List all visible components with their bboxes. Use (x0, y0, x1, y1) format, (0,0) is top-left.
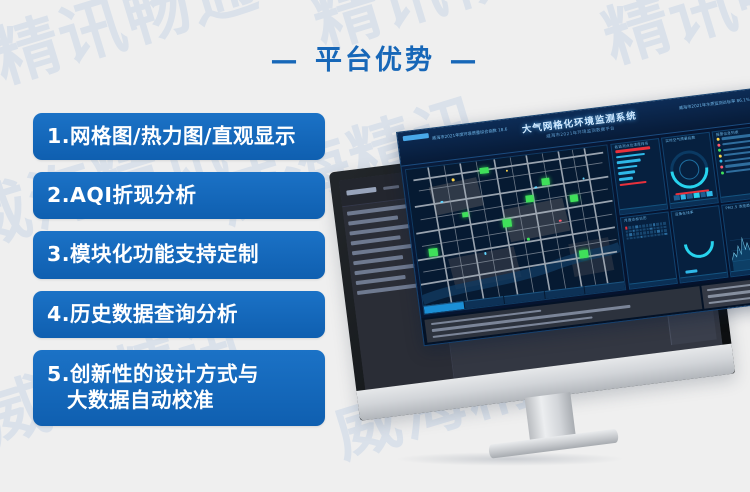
heat-cell (629, 233, 632, 236)
heat-cell (637, 236, 640, 239)
heat-cell (649, 224, 652, 227)
map-marker[interactable] (570, 194, 579, 202)
status-dot (716, 138, 719, 141)
heat-cell (632, 229, 635, 232)
legend-cell (680, 194, 686, 200)
footer-side-row (707, 280, 750, 291)
heat-cell (654, 234, 657, 237)
panel-title: 月度达标日历 (624, 216, 647, 224)
heat-cell (650, 231, 653, 234)
heat-cell (643, 232, 646, 235)
heat-cell (626, 237, 629, 240)
heat-cell (643, 228, 646, 231)
heat-cell (636, 232, 639, 235)
heat-cell (630, 237, 633, 240)
heat-cell (635, 225, 638, 228)
alarm-text (725, 161, 750, 168)
heat-cell (625, 227, 628, 230)
page-title-dash-left: — (271, 45, 301, 76)
legend-cell (700, 191, 706, 197)
alarm-text (724, 150, 750, 157)
heat-cell (632, 226, 635, 229)
alarm-text (722, 139, 750, 146)
panel-calendar-heatmap[interactable]: 月度达标日历 (620, 212, 678, 290)
panel-aqi-gauge[interactable]: 实时空气质量指数 (661, 132, 719, 210)
heat-cell (651, 234, 654, 237)
feature-label: 2.AQI折现分析 (47, 183, 196, 207)
heat-cell (633, 236, 636, 239)
sidebar-item[interactable] (347, 204, 410, 216)
feature-list: 1.网格图/热力图/直观显示 2.AQI折现分析 3.模块化功能支持定制 4.历… (33, 113, 325, 438)
panel-title: 实时空气质量指数 (665, 136, 696, 145)
sidebar-item[interactable] (351, 236, 401, 246)
heat-cell (640, 235, 643, 238)
heat-cell (657, 230, 660, 233)
status-dot (720, 165, 723, 168)
console-topbar-item[interactable] (383, 185, 399, 190)
gauge-inner-ring (676, 155, 704, 183)
heatmap-grid (625, 222, 667, 240)
map-marker[interactable] (502, 218, 512, 227)
heat-cell (633, 233, 636, 236)
heat-cell (650, 227, 653, 230)
heat-cell (661, 233, 664, 236)
heat-cell (628, 226, 631, 229)
map-marker[interactable] (428, 248, 438, 257)
heat-cell (656, 223, 659, 226)
status-dot (717, 143, 720, 146)
heat-cell (625, 230, 628, 233)
heat-cell (640, 232, 643, 235)
map-point[interactable] (452, 179, 455, 182)
panel-title: PM2.5 浓度趋势 (725, 203, 750, 211)
gauge-progress-bar (685, 269, 698, 273)
legend-cell (693, 192, 699, 198)
trend-sparkline (728, 226, 750, 273)
alarm-text (724, 156, 750, 163)
feature-label: 4.历史数据查询分析 (47, 302, 238, 326)
sidebar-item[interactable] (348, 216, 398, 226)
feature-item-5[interactable]: 5.创新性的设计方式与 大数据自动校准 (33, 350, 325, 426)
gauge-ring-icon (678, 222, 720, 264)
sidebar-item[interactable] (352, 244, 415, 256)
page-title-dash-right: — (449, 45, 479, 76)
heat-cell (660, 222, 663, 225)
heat-cell (636, 229, 639, 232)
page-title: 平台优势 (305, 38, 445, 77)
feature-item-3[interactable]: 3.模块化功能支持定制 (33, 231, 325, 278)
heat-cell (657, 226, 660, 229)
heat-cell (664, 226, 667, 229)
feature-item-2[interactable]: 2.AQI折现分析 (33, 172, 325, 219)
heat-cell (663, 222, 666, 225)
map-marker[interactable] (579, 250, 589, 259)
grid-map[interactable] (405, 144, 626, 314)
gauge-ring-icon (663, 143, 716, 196)
heat-cell (653, 227, 656, 230)
heat-cell (661, 229, 664, 232)
monitoring-dashboard: 威海市2021年度环境质量综合指数 18.6 大气网格化环境监测系统 威海市20… (396, 87, 750, 346)
line-chart-icon (728, 226, 750, 273)
heat-cell (646, 228, 649, 231)
heat-cell (658, 233, 661, 236)
heat-cell (626, 234, 629, 237)
panel-title: 设备在线率 (675, 211, 694, 218)
legend-cell (706, 190, 712, 196)
page-title-wrap: — 平台优势 — (0, 38, 750, 77)
heat-cell (647, 235, 650, 238)
heat-cell (660, 226, 663, 229)
status-dot (718, 149, 721, 152)
sidebar-item[interactable] (349, 224, 412, 236)
feature-label: 1.网格图/热力图/直观显示 (47, 124, 296, 148)
heat-cell (639, 229, 642, 232)
heat-cell (646, 224, 649, 227)
legend-cell (673, 195, 679, 201)
status-dot (721, 171, 724, 174)
heat-cell (639, 225, 642, 228)
heat-cell (647, 231, 650, 234)
sidebar-item[interactable] (357, 284, 420, 296)
map-point[interactable] (484, 252, 487, 255)
map-marker[interactable] (525, 195, 534, 203)
sidebar-item[interactable] (353, 255, 403, 265)
heat-cell (629, 230, 632, 233)
heat-cell (644, 235, 647, 238)
heat-cell (642, 225, 645, 228)
feature-item-1[interactable]: 1.网格图/热力图/直观显示 (33, 113, 325, 160)
heat-cell (664, 229, 667, 232)
panel-footer (721, 191, 750, 202)
status-dot (719, 160, 722, 163)
console-logo (346, 187, 376, 196)
map-point[interactable] (527, 238, 530, 241)
alarm-text (726, 167, 750, 174)
map-marker[interactable] (462, 212, 469, 218)
status-dot (719, 154, 722, 157)
alarm-text (723, 144, 750, 151)
heat-cell (665, 233, 668, 236)
panel-online-rate-gauge[interactable]: 设备在线率 (670, 205, 728, 283)
heat-cell (654, 230, 657, 233)
feature-label: 3.模块化功能支持定制 (47, 242, 259, 266)
feature-item-4[interactable]: 4.历史数据查询分析 (33, 291, 325, 338)
map-marker[interactable] (479, 167, 489, 174)
feature-label-line1: 5.创新性的设计方式与 (47, 362, 259, 386)
sidebar-item[interactable] (356, 275, 406, 285)
legend-cell (687, 193, 693, 199)
heat-cell (653, 223, 656, 226)
dashboard-panel-grid: 各监测点位浓度排名 实时空气质量指数 (610, 122, 750, 292)
feature-label-line2: 大数据自动校准 (47, 387, 325, 413)
sidebar-item[interactable] (354, 264, 417, 276)
map-marker[interactable] (541, 177, 550, 185)
panel-ranking-bars[interactable]: 各监测点位浓度排名 (610, 138, 668, 216)
